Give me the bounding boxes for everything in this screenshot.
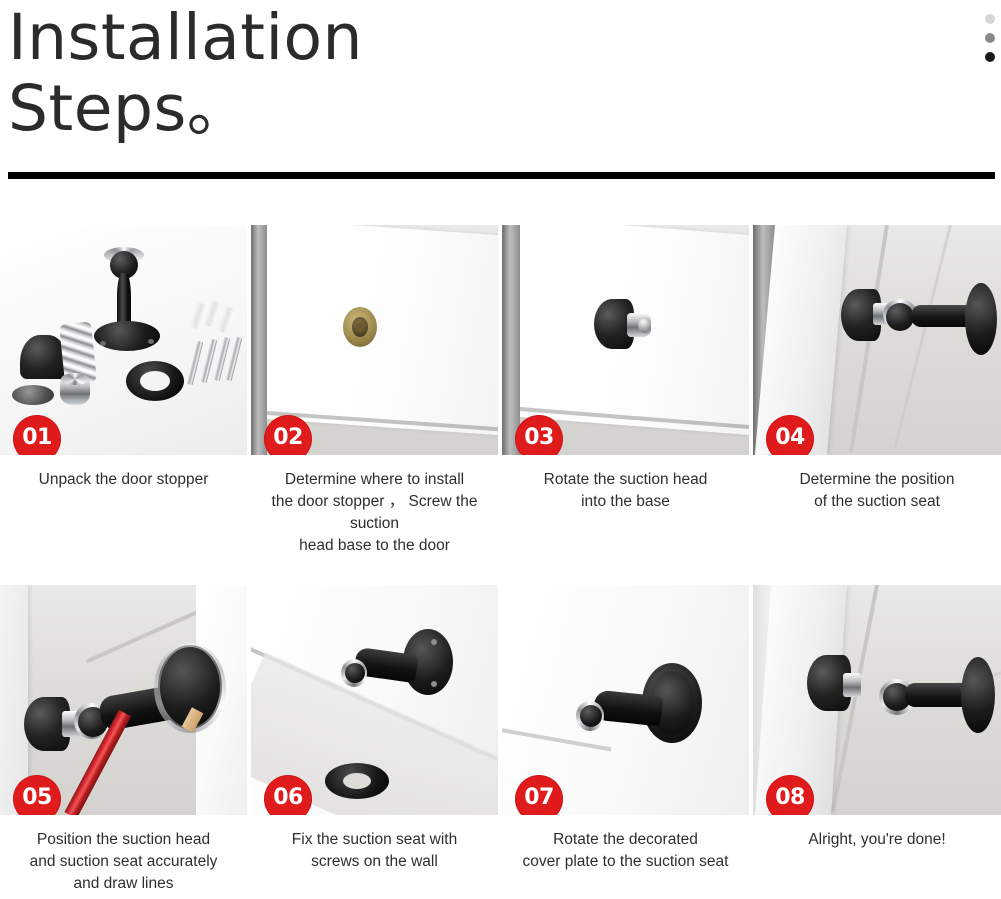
step-caption-06: Fix the suction seat with screws on the …	[251, 815, 498, 873]
step-badge-05: 05	[13, 775, 61, 815]
step-badge-07: 07	[515, 775, 563, 815]
step-photo-04: 04	[753, 225, 1001, 455]
step-photo-05: 05	[0, 585, 247, 815]
step-card-03: 03 Rotate the suction head into the base	[502, 225, 749, 557]
step-card-08: 08 Alright, you're done!	[753, 585, 1001, 895]
steps-grid-row2: 05 Position the suction head and suction…	[0, 585, 1001, 895]
step-number-08: 08	[775, 787, 805, 809]
step-card-07: 07 Rotate the decorated cover plate to t…	[502, 585, 749, 895]
step-card-05: 05 Position the suction head and suction…	[0, 585, 247, 895]
page-header: Installation Steps。	[0, 0, 1001, 144]
step-card-02: 02 Determine where to install the door s…	[251, 225, 498, 557]
page-title: Installation Steps。	[8, 0, 993, 144]
step-badge-01: 01	[13, 415, 61, 455]
step-photo-07: 07	[502, 585, 749, 815]
pagination-dot-1[interactable]	[985, 14, 995, 24]
pagination-dots	[985, 14, 995, 62]
step-photo-01: 01	[0, 225, 247, 455]
step-caption-07: Rotate the decorated cover plate to the …	[502, 815, 749, 873]
step-card-01: 01 Unpack the door stopper	[0, 225, 247, 557]
step-photo-03: 03	[502, 225, 749, 455]
step-caption-02: Determine where to install the door stop…	[251, 455, 498, 557]
pagination-dot-3[interactable]	[985, 52, 995, 62]
step-photo-02: 02	[251, 225, 498, 455]
step-caption-03: Rotate the suction head into the base	[502, 455, 749, 513]
installation-steps-page: Installation Steps。	[0, 0, 1001, 899]
pagination-dot-2[interactable]	[985, 33, 995, 43]
step-number-06: 06	[273, 787, 303, 809]
step-number-02: 02	[273, 427, 303, 449]
step-badge-06: 06	[264, 775, 312, 815]
step-badge-02: 02	[264, 415, 312, 455]
step-number-01: 01	[22, 427, 52, 449]
step-card-04: 04 Determine the position of the suction…	[753, 225, 1001, 557]
step-badge-03: 03	[515, 415, 563, 455]
step-caption-04: Determine the position of the suction se…	[753, 455, 1001, 513]
step-caption-05: Position the suction head and suction se…	[0, 815, 247, 895]
step-badge-08: 08	[766, 775, 814, 815]
step-photo-06: 06	[251, 585, 498, 815]
step-number-03: 03	[524, 427, 554, 449]
step-caption-01: Unpack the door stopper	[0, 455, 247, 491]
step-number-05: 05	[22, 787, 52, 809]
step-number-07: 07	[524, 787, 554, 809]
steps-grid: 01 Unpack the door stopper 02	[0, 225, 1001, 557]
step-card-06: 06 Fix the suction seat with screws on t…	[251, 585, 498, 895]
step-number-04: 04	[775, 427, 805, 449]
step-photo-08: 08	[753, 585, 1001, 815]
step-caption-08: Alright, you're done!	[753, 815, 1001, 851]
step-badge-04: 04	[766, 415, 814, 455]
title-divider	[8, 172, 995, 179]
